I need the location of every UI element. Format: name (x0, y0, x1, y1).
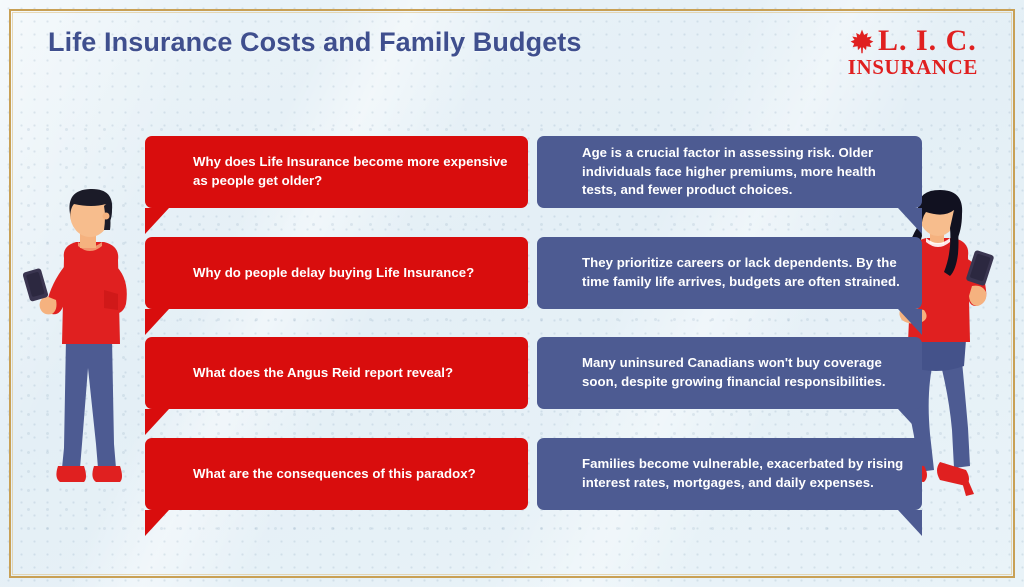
answer-text: Families become vulnerable, exacerbated … (582, 455, 904, 492)
question-bubble-tail (145, 208, 169, 234)
qa-row: Why do people delay buying Life Insuranc… (0, 237, 1024, 309)
answer-bubble-tail (898, 510, 922, 536)
answer-bubble[interactable]: Families become vulnerable, exacerbated … (537, 438, 922, 510)
question-bubble[interactable]: Why do people delay buying Life Insuranc… (145, 237, 528, 309)
qa-row: Why does Life Insurance become more expe… (0, 136, 1024, 208)
question-text: Why does Life Insurance become more expe… (193, 153, 510, 190)
question-bubble-tail (145, 510, 169, 536)
answer-bubble[interactable]: Age is a crucial factor in assessing ris… (537, 136, 922, 208)
question-text: What are the consequences of this parado… (193, 465, 476, 484)
question-text: What does the Angus Reid report reveal? (193, 364, 453, 383)
answer-bubble[interactable]: Many uninsured Canadians won't buy cover… (537, 337, 922, 409)
logo-primary-text: L. I. C. (878, 26, 977, 56)
answer-bubble-tail (898, 208, 922, 234)
logo-primary-row: L. I. C. (848, 26, 978, 56)
answer-text: They prioritize careers or lack dependen… (582, 254, 904, 291)
answer-text: Many uninsured Canadians won't buy cover… (582, 354, 904, 391)
page-title: Life Insurance Costs and Family Budgets (48, 27, 582, 58)
question-bubble-tail (145, 409, 169, 435)
answer-bubble-tail (898, 409, 922, 435)
question-text: Why do people delay buying Life Insuranc… (193, 264, 474, 283)
qa-row: What are the consequences of this parado… (0, 438, 1024, 510)
question-bubble[interactable]: Why does Life Insurance become more expe… (145, 136, 528, 208)
maple-leaf-icon (849, 28, 875, 54)
qa-row: What does the Angus Reid report reveal? … (0, 337, 1024, 409)
answer-bubble[interactable]: They prioritize careers or lack dependen… (537, 237, 922, 309)
question-bubble[interactable]: What are the consequences of this parado… (145, 438, 528, 510)
qa-rows: Why does Life Insurance become more expe… (0, 0, 1024, 587)
brand-logo[interactable]: L. I. C. INSURANCE (848, 26, 978, 78)
answer-bubble-tail (898, 309, 922, 335)
logo-secondary-text: INSURANCE (848, 57, 978, 78)
infographic-canvas: Why does Life Insurance become more expe… (0, 0, 1024, 587)
answer-text: Age is a crucial factor in assessing ris… (582, 144, 904, 200)
question-bubble[interactable]: What does the Angus Reid report reveal? (145, 337, 528, 409)
question-bubble-tail (145, 309, 169, 335)
